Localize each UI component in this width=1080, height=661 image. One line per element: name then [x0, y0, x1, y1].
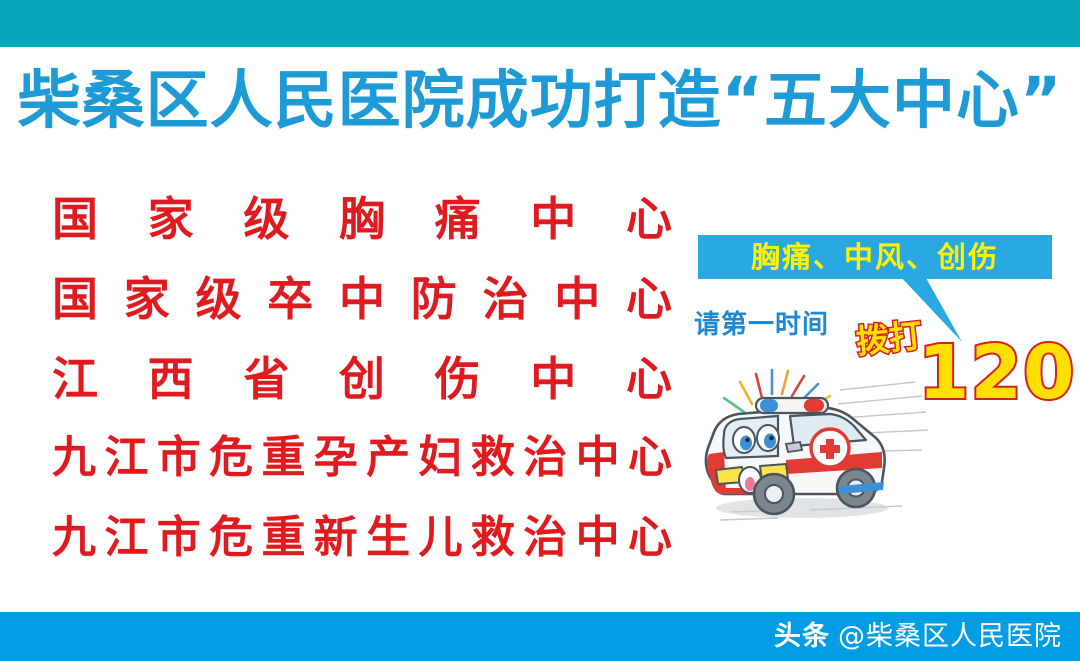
center-char: 级 [196, 276, 242, 330]
center-char: 级 [243, 196, 289, 250]
center-char: 防 [411, 276, 457, 330]
center-char: 危 [209, 516, 253, 570]
footer-handle-label: @柴桑区人民医院 [838, 623, 1062, 650]
center-char: 省 [243, 356, 289, 410]
center-char: 心 [628, 516, 672, 570]
center-char: 产 [366, 436, 410, 490]
center-char: 卒 [267, 276, 313, 330]
center-char: 救 [471, 516, 515, 570]
center-char: 国 [52, 196, 98, 250]
center-char: 心 [626, 276, 672, 330]
footer-brand-label: 头条 [774, 623, 830, 650]
center-char: 创 [339, 356, 385, 410]
center-char: 儿 [419, 516, 463, 570]
center-line-4: 九江市危重孕产妇救治中心 [52, 436, 672, 490]
footer-attribution: 头条 @柴桑区人民医院 [774, 612, 1062, 661]
center-char: 中 [576, 516, 620, 570]
center-char: 中 [576, 436, 620, 490]
center-char: 治 [483, 276, 529, 330]
center-char: 心 [628, 436, 672, 490]
speech-bubble-label: 胸痛、中风、创伤 [751, 243, 999, 272]
emergency-number: 120 [918, 336, 1075, 410]
center-char: 妇 [419, 436, 463, 490]
center-char: 重 [261, 436, 305, 490]
poster-canvas: 柴桑区人民医院成功打造“五大中心” 国家级胸痛中心 国家级卒中防治中心 江西省创… [0, 0, 1080, 661]
center-char: 江 [104, 516, 148, 570]
center-line-2: 国家级卒中防治中心 [52, 276, 672, 330]
center-char: 市 [157, 516, 201, 570]
center-char: 江 [104, 436, 148, 490]
center-char: 伤 [435, 356, 481, 410]
center-char: 中 [339, 276, 385, 330]
center-char: 新 [314, 516, 358, 570]
center-line-5: 九江市危重新生儿救治中心 [52, 516, 672, 570]
center-char: 国 [52, 276, 98, 330]
page-title: 柴桑区人民医院成功打造“五大中心” [0, 52, 1080, 148]
center-char: 孕 [314, 436, 358, 490]
center-char: 九 [52, 516, 96, 570]
center-char: 治 [523, 436, 567, 490]
center-char: 家 [148, 196, 194, 250]
ambulance-icon [690, 360, 930, 540]
center-char: 心 [626, 196, 672, 250]
center-char: 中 [530, 356, 576, 410]
center-char: 胸 [339, 196, 385, 250]
center-line-1: 国家级胸痛中心 [52, 196, 672, 250]
center-line-3: 江西省创伤中心 [52, 356, 672, 410]
centers-list: 国家级胸痛中心 国家级卒中防治中心 江西省创伤中心 九江市危重孕产妇救治中心 九… [52, 196, 672, 596]
center-char: 西 [148, 356, 194, 410]
center-char: 痛 [435, 196, 481, 250]
center-char: 九 [52, 436, 96, 490]
center-char: 重 [261, 516, 305, 570]
center-char: 危 [209, 436, 253, 490]
center-char: 家 [124, 276, 170, 330]
center-char: 救 [471, 436, 515, 490]
call-prompt-label: 请第一时间 [694, 312, 829, 338]
center-char: 市 [157, 436, 201, 490]
center-char: 江 [52, 356, 98, 410]
center-char: 中 [554, 276, 600, 330]
dial-label: 拨打 [854, 319, 923, 359]
center-char: 中 [530, 196, 576, 250]
center-char: 心 [626, 356, 672, 410]
center-char: 治 [523, 516, 567, 570]
top-accent-bar [0, 0, 1080, 47]
center-char: 生 [366, 516, 410, 570]
emergency-speech-bubble: 胸痛、中风、创伤 [698, 235, 1052, 279]
